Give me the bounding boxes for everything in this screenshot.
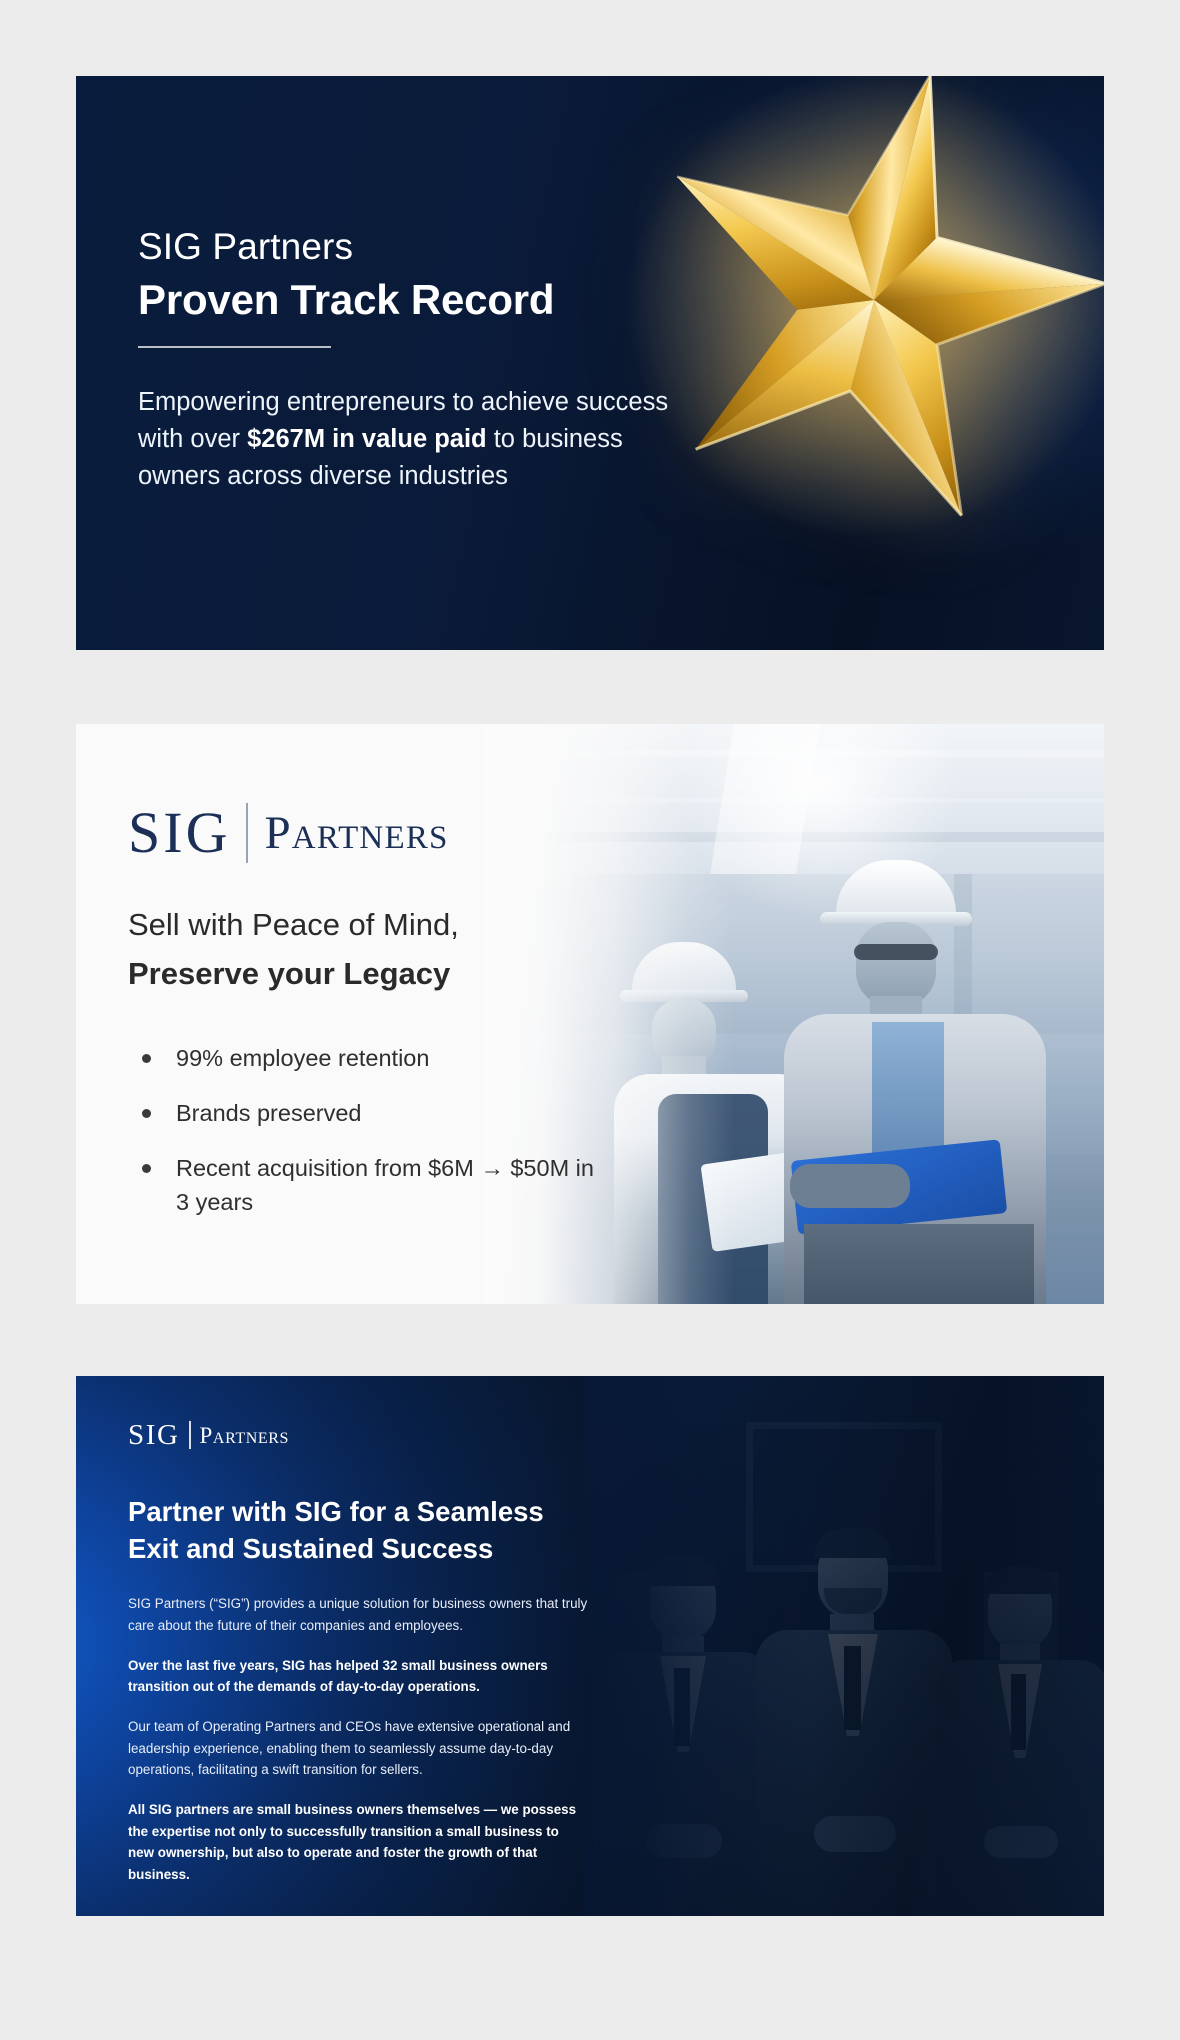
panel1-subtitle: Empowering entrepreneurs to achieve succ…	[138, 384, 698, 495]
sig-partners-logo: SIG Partners	[128, 802, 598, 864]
list-item-label: Brands preserved	[176, 1100, 362, 1126]
panel3-paragraph-2: Over the last five years, SIG has helped…	[128, 1655, 588, 1698]
panel2-content: SIG Partners Sell with Peace of Mind, Pr…	[128, 802, 598, 1241]
panel-proven-track-record: SIG Partners Proven Track Record Empower…	[76, 76, 1104, 650]
bullet-dot-icon	[142, 1109, 151, 1118]
panel3-content: SIG Partners Partner with SIG for a Seam…	[128, 1420, 598, 1904]
panel3-title: Partner with SIG for a Seamless Exit and…	[128, 1494, 598, 1567]
panel-sell-with-peace-of-mind: SIG Partners Sell with Peace of Mind, Pr…	[76, 724, 1104, 1304]
hand	[790, 1164, 910, 1208]
bullet-dot-icon	[142, 1164, 151, 1173]
panel2-headline-line1: Sell with Peace of Mind,	[128, 906, 598, 945]
logo-partners-text: Partners	[200, 1424, 290, 1447]
panel3-paragraph-4: All SIG partners are small business owne…	[128, 1799, 588, 1886]
male-worker-silhouette	[784, 864, 1046, 1304]
logo-sig-text: SIG	[128, 804, 230, 862]
face	[856, 922, 936, 1006]
list-item: Brands preserved	[128, 1097, 598, 1130]
panel1-kicker: SIG Partners	[138, 226, 698, 269]
trousers	[804, 1224, 1034, 1304]
list-item-label: 99% employee retention	[176, 1045, 429, 1071]
bullet-dot-icon	[142, 1054, 151, 1063]
panel3-paragraphs: SIG Partners (“SIG”) provides a unique s…	[128, 1593, 598, 1886]
panel1-divider	[138, 346, 331, 348]
sig-partners-logo: SIG Partners	[128, 1420, 598, 1450]
panel3-paragraph-1: SIG Partners (“SIG”) provides a unique s…	[128, 1593, 588, 1636]
panel2-bullet-list: 99% employee retention Brands preserved …	[128, 1042, 598, 1219]
list-item: Recent acquisition from $6M → $50M in 3 …	[128, 1152, 598, 1219]
list-item-label: Recent acquisition from $6M → $50M in 3 …	[176, 1155, 594, 1214]
logo-divider	[246, 803, 248, 863]
panel1-subtitle-highlight: $267M in value paid	[247, 425, 487, 453]
slide-deck-page: SIG Partners Proven Track Record Empower…	[0, 0, 1180, 2040]
panel3-paragraph-3: Our team of Operating Partners and CEOs …	[128, 1716, 588, 1781]
logo-divider	[189, 1421, 191, 1449]
logo-sig-text: SIG	[128, 1421, 180, 1450]
list-item: 99% employee retention	[128, 1042, 598, 1075]
panel1-title: Proven Track Record	[138, 275, 698, 325]
panel-partner-with-sig: SIG Partners Partner with SIG for a Seam…	[76, 1376, 1104, 1916]
panel1-content: SIG Partners Proven Track Record Empower…	[138, 226, 698, 495]
logo-partners-text: Partners	[264, 810, 448, 857]
eyeglasses	[854, 944, 938, 960]
panel2-headline-line2: Preserve your Legacy	[128, 955, 598, 994]
